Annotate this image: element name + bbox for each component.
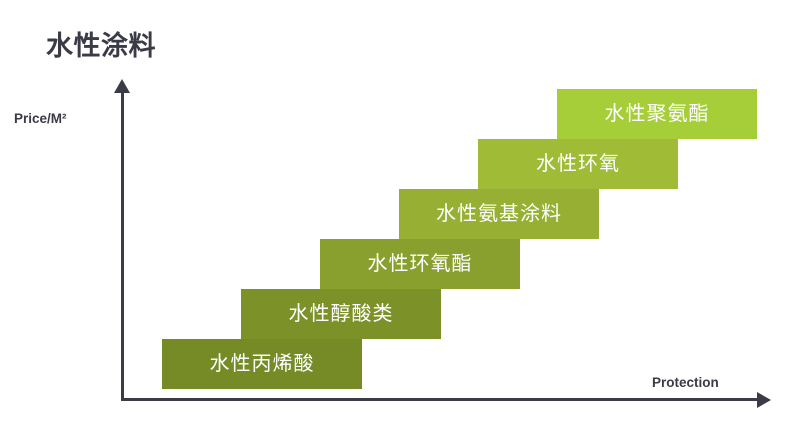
bar-step[interactable]: 水性氨基涂料 [399, 189, 599, 239]
bar-label: 水性聚氨酯 [605, 104, 710, 124]
bar-step[interactable]: 水性环氧酯 [320, 239, 520, 289]
bar-label: 水性环氧 [536, 154, 620, 174]
bar-label: 水性氨基涂料 [436, 204, 562, 224]
bar-series: 水性丙烯酸水性醇酸类水性环氧酯水性氨基涂料水性环氧水性聚氨酯 [0, 0, 800, 426]
bar-step[interactable]: 水性聚氨酯 [557, 89, 757, 139]
bar-label: 水性醇酸类 [289, 304, 394, 324]
bar-step[interactable]: 水性醇酸类 [241, 289, 441, 339]
bar-label: 水性丙烯酸 [210, 354, 315, 374]
bar-step[interactable]: 水性环氧 [478, 139, 678, 189]
slide-canvas: 水性涂料 Price/M² Protection 水性丙烯酸水性醇酸类水性环氧酯… [0, 0, 800, 426]
bar-step[interactable]: 水性丙烯酸 [162, 339, 362, 389]
bar-label: 水性环氧酯 [368, 254, 473, 274]
